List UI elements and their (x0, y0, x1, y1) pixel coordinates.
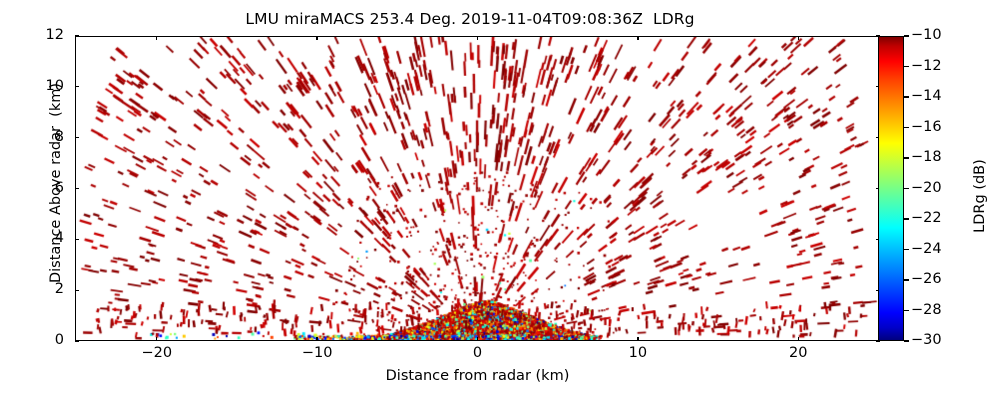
colorbar-tick-mark (904, 96, 909, 97)
colorbar-tick-mark (904, 66, 909, 67)
y-tick-mark (75, 35, 79, 36)
plot-title: LMU miraMACS 253.4 Deg. 2019-11-04T09:08… (0, 10, 940, 28)
x-tick-mark (477, 36, 478, 40)
colorbar-tick-label: −16 (911, 119, 942, 135)
x-tick-mark (477, 337, 478, 341)
colorbar-tick-mark (904, 218, 909, 219)
y-tick-mark (75, 86, 79, 87)
x-tick-mark (637, 36, 638, 40)
colorbar-tick-label: −14 (911, 88, 942, 104)
colorbar-gradient (878, 36, 904, 341)
colorbar-tick-mark (904, 188, 909, 189)
colorbar-tick-label: −28 (911, 302, 942, 318)
plot-axes (75, 36, 880, 341)
colorbar-tick-mark (904, 127, 909, 128)
scatter-data-layer (76, 37, 879, 340)
colorbar-tick-label: −26 (911, 271, 942, 287)
colorbar-tick-mark (904, 249, 909, 250)
colorbar-tick-label: −10 (911, 27, 942, 43)
colorbar-tick-label: −20 (911, 180, 942, 196)
colorbar-tick-label: −22 (911, 210, 942, 226)
x-tick-mark (156, 36, 157, 40)
x-tick-label: −20 (122, 345, 192, 361)
y-tick-mark (75, 340, 79, 341)
figure-canvas: LMU miraMACS 253.4 Deg. 2019-11-04T09:08… (0, 0, 1000, 400)
y-tick-label: 0 (0, 332, 64, 348)
colorbar-title: LDRg (dB) (972, 96, 988, 296)
x-tick-label: 20 (763, 345, 833, 361)
colorbar-tick-mark (904, 35, 909, 36)
x-tick-label: −10 (282, 345, 352, 361)
colorbar-tick-mark (904, 157, 909, 158)
colorbar-tick-mark (904, 310, 909, 311)
x-tick-mark (637, 337, 638, 341)
x-tick-label: 10 (603, 345, 673, 361)
colorbar-tick-label: −24 (911, 241, 942, 257)
x-tick-label: 0 (443, 345, 513, 361)
x-tick-mark (316, 337, 317, 341)
colorbar-tick-label: −18 (911, 149, 942, 165)
x-tick-mark (156, 337, 157, 341)
colorbar-tick-label: −12 (911, 58, 942, 74)
x-tick-mark (798, 337, 799, 341)
y-tick-mark (75, 188, 79, 189)
colorbar-tick-mark (904, 279, 909, 280)
colorbar-tick-mark (904, 340, 909, 341)
y-tick-mark (75, 239, 79, 240)
x-tick-mark (316, 36, 317, 40)
x-axis-title: Distance from radar (km) (75, 368, 880, 384)
x-tick-mark (798, 36, 799, 40)
y-tick-mark (75, 137, 79, 138)
y-tick-mark (75, 290, 79, 291)
y-axis-title: Distance Above radar (km) (48, 33, 64, 333)
colorbar-tick-label: −30 (911, 332, 942, 348)
